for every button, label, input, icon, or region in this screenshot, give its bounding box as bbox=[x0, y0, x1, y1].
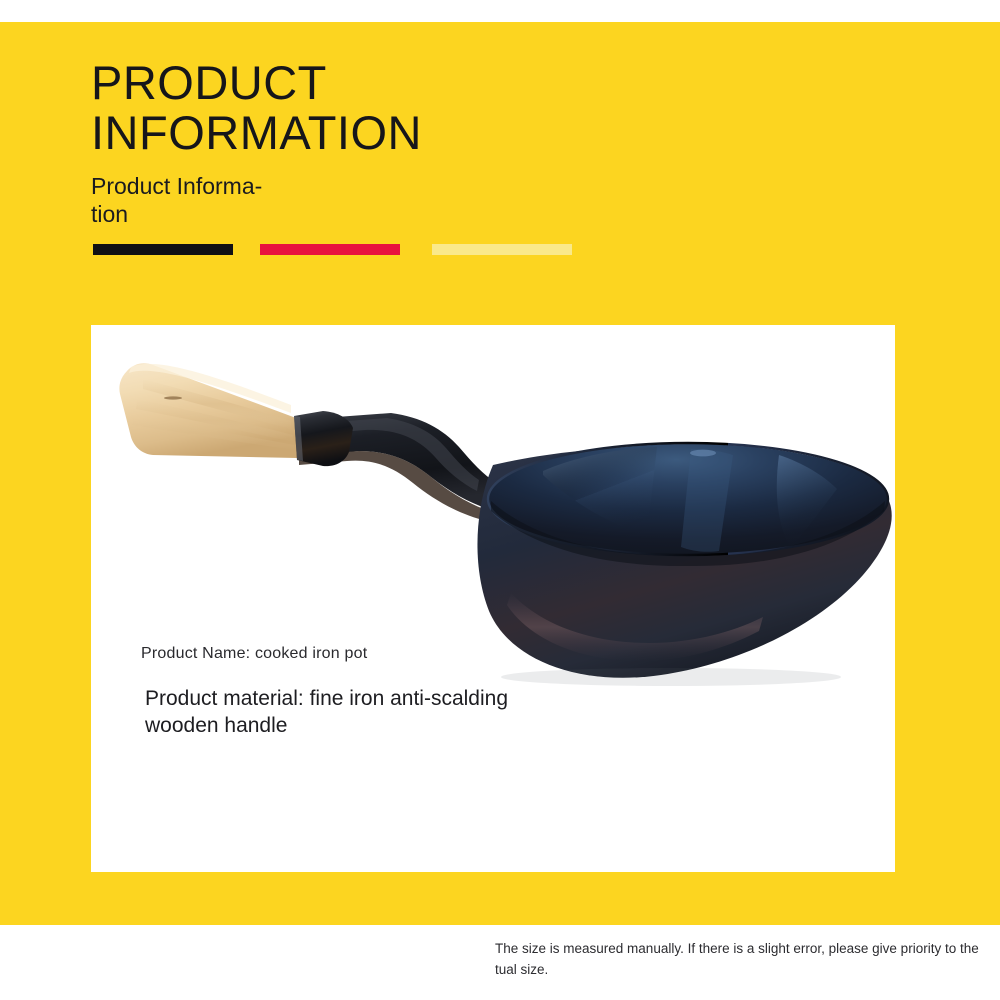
product-name-label: Product Name: cooked iron pot bbox=[141, 645, 367, 663]
divider-rule-pale bbox=[432, 244, 572, 255]
page-title: PRODUCT INFORMATION bbox=[91, 58, 691, 158]
product-information-page: PRODUCT INFORMATION Product Informa- tio… bbox=[0, 0, 1000, 1000]
divider-rule-black bbox=[93, 244, 233, 255]
product-card: Product Name: cooked iron pot Product ma… bbox=[91, 325, 895, 872]
divider-rule-red bbox=[260, 244, 400, 255]
divider-rules bbox=[93, 244, 593, 257]
wok-contact-shadow bbox=[501, 668, 841, 686]
size-disclaimer: The size is measured manually. If there … bbox=[495, 938, 1000, 980]
product-material-label: Product material: fine iron anti-scaldin… bbox=[145, 685, 575, 739]
page-subtitle: Product Informa- tion bbox=[91, 172, 691, 228]
wok-handle-knot bbox=[164, 396, 182, 399]
header: PRODUCT INFORMATION Product Informa- tio… bbox=[91, 58, 691, 228]
wok-ferrule bbox=[294, 411, 353, 466]
wok-interior-specular bbox=[690, 450, 716, 457]
